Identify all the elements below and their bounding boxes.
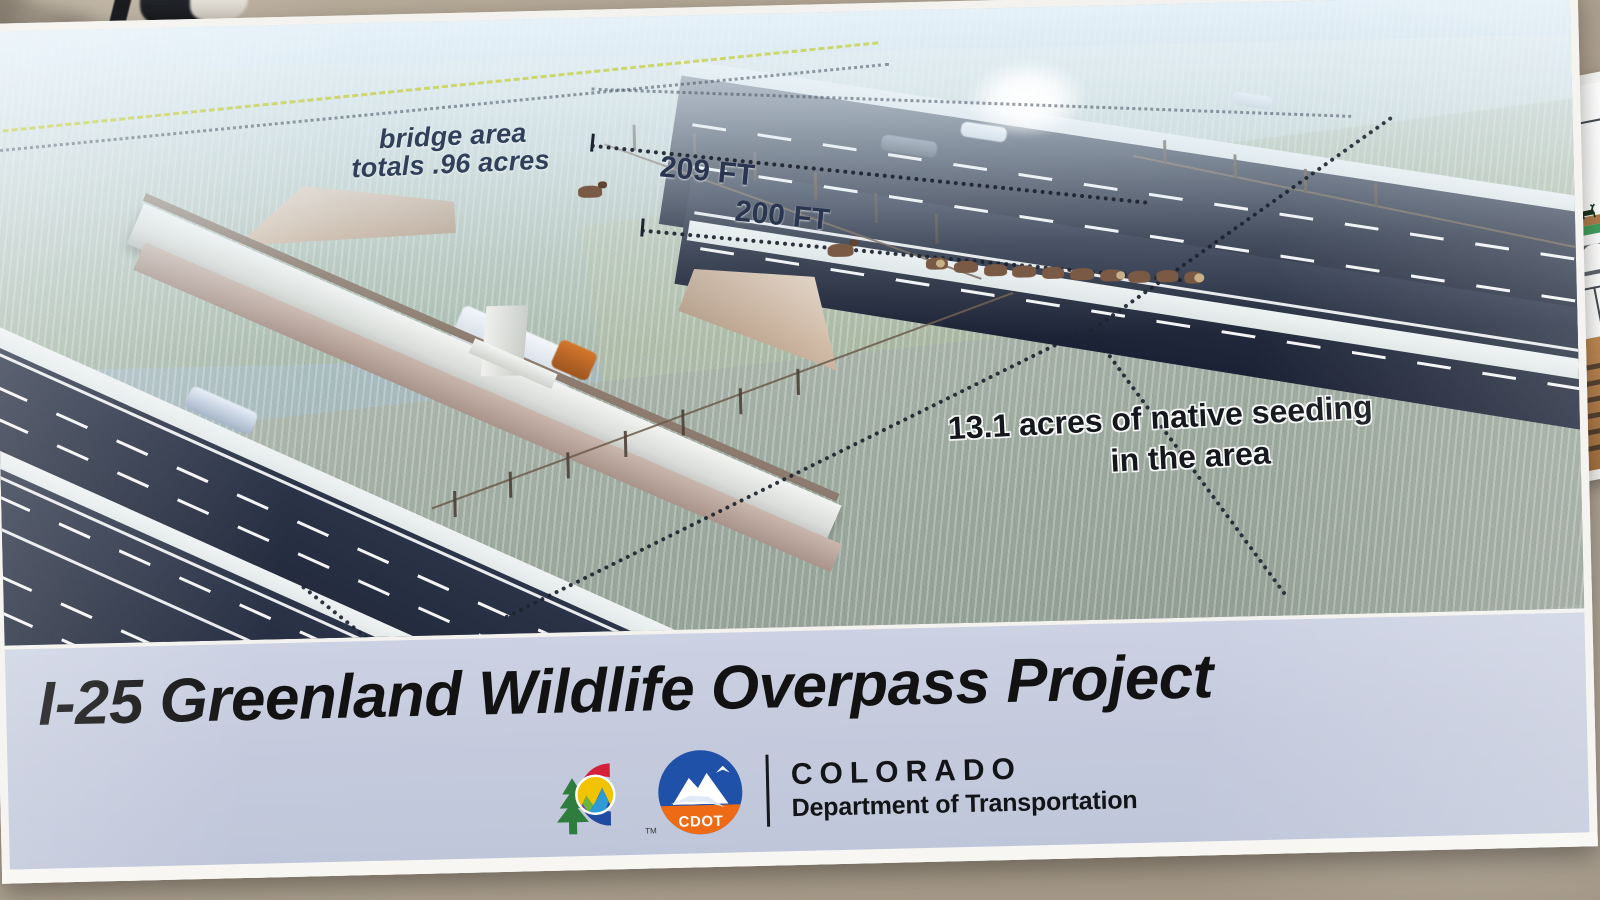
- photograph-of-project-display-board: bridge area totals .96 acres 209 FT 200 …: [0, 0, 1600, 900]
- department-name: Department of Transportation: [791, 787, 1137, 820]
- elk: [1070, 268, 1094, 281]
- fence-post: [739, 388, 743, 414]
- fence-post: [1233, 154, 1237, 178]
- fence-post: [509, 472, 513, 498]
- cdot-badge-label: CDOT: [659, 812, 743, 831]
- elk: [984, 264, 1007, 277]
- logo-divider: [765, 755, 770, 827]
- colorado-state-logo: TM: [547, 751, 645, 839]
- state-name: COLORADO: [791, 752, 1137, 790]
- colorado-c-icon: [547, 751, 645, 839]
- elk-head: [598, 181, 607, 188]
- title-band: I-25 Greenland Wildlife Overpass Project: [5, 612, 1590, 875]
- fence-post: [633, 125, 637, 151]
- elk: [1156, 270, 1178, 283]
- agency-wordmark: COLORADO Department of Transportation: [791, 752, 1138, 821]
- elk: [954, 261, 978, 274]
- agency-branding: TM CDOT COLORADO Department of Transport…: [547, 739, 1138, 839]
- project-display-board: bridge area totals .96 acres 209 FT 200 …: [0, 0, 1598, 884]
- fence-post: [814, 172, 818, 200]
- fence-post: [1163, 140, 1167, 164]
- cdot-badge-logo: CDOT: [657, 749, 743, 835]
- elk: [1042, 267, 1064, 280]
- bird-icon: [716, 766, 730, 773]
- elk-head: [849, 239, 858, 246]
- fence-post: [624, 431, 628, 457]
- elk: [1128, 271, 1150, 284]
- elk: [1012, 265, 1036, 278]
- trademark-mark: TM: [645, 826, 657, 835]
- fence-post: [1374, 183, 1378, 207]
- fence-post: [566, 452, 570, 478]
- fence-post: [453, 491, 457, 517]
- aerial-rendering: bridge area totals .96 acres 209 FT 200 …: [0, 0, 1584, 646]
- page-title: I-25 Greenland Wildlife Overpass Project: [37, 633, 1566, 740]
- fence-post: [681, 410, 685, 436]
- fence-post: [796, 369, 800, 395]
